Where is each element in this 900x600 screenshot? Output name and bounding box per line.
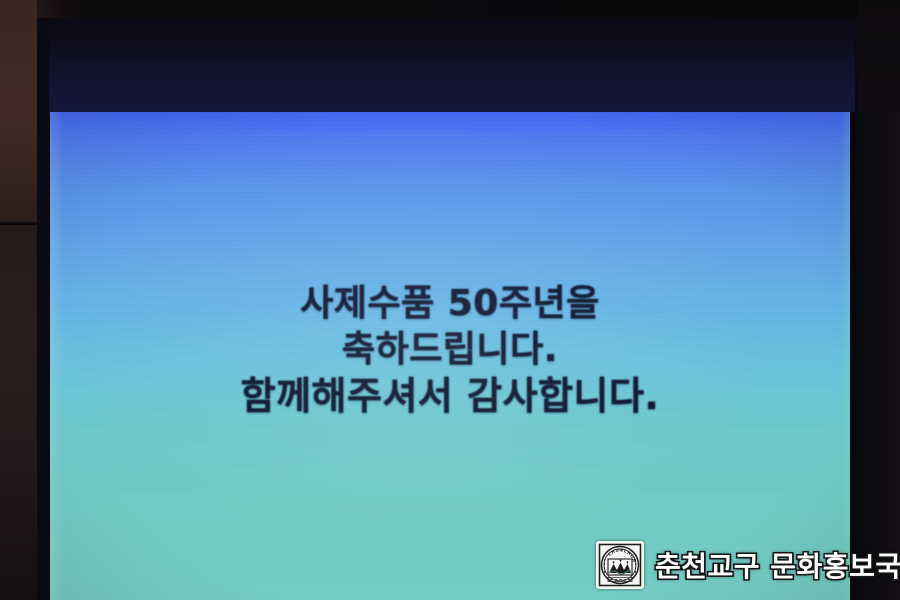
- watermark-label: 춘천교구 문화홍보국: [655, 545, 900, 585]
- watermark: CHUNCHON 춘천교구 문화홍보국: [596, 541, 900, 589]
- slide-text-line-2: 축하드립니다.: [50, 332, 850, 369]
- screenshot-root: 사제수품 50주년을 축하드립니다. 함께해주셔서 감사합니다. CHUNCHO…: [0, 0, 900, 600]
- slide-text-block: 사제수품 50주년을 축하드립니다. 함께해주셔서 감사합니다.: [50, 286, 850, 416]
- chuncheon-diocese-seal-icon: CHUNCHON: [596, 541, 644, 589]
- slide-text-line-3: 함께해주셔서 감사합니다.: [50, 377, 850, 416]
- screen-right-dark-edge: [850, 112, 900, 600]
- projected-slide: 사제수품 50주년을 축하드립니다. 함께해주셔서 감사합니다.: [50, 112, 850, 600]
- wall-left-panel: [0, 0, 37, 600]
- wall-left-panel-seam: [0, 222, 37, 225]
- slide-text-line-1: 사제수품 50주년을: [50, 286, 850, 323]
- projection-screen-header-band: [49, 20, 855, 115]
